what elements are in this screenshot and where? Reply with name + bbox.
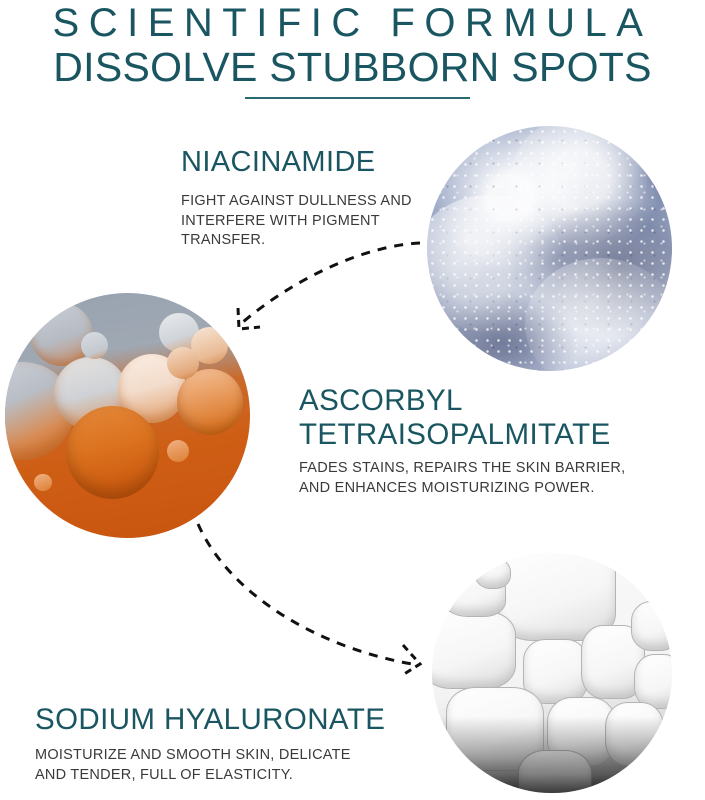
ingredient-description-sodium-hyaluronate: MOISTURIZE AND SMOOTH SKIN, DELICATE AND… <box>35 746 385 785</box>
ingredient-heading-sodium-hyaluronate: SODIUM HYALURONATE <box>35 703 385 737</box>
ingredient-heading-ascorbyl-line-1: ASCORBYL <box>299 384 463 418</box>
product-infographic: SCIENTIFIC FORMULA DISSOLVE STUBBORN SPO… <box>0 0 705 800</box>
ingredient-heading-niacinamide: NIACINAMIDE <box>181 146 376 179</box>
ingredient-description-ascorbyl: FADES STAINS, REPAIRS THE SKIN BARRIER, … <box>299 459 629 498</box>
ingredient-description-niacinamide: FIGHT AGAINST DULLNESS AND INTERFERE WIT… <box>181 192 443 251</box>
ingredient-heading-ascorbyl-line-2: TETRAISOPALMITATE <box>299 418 611 452</box>
